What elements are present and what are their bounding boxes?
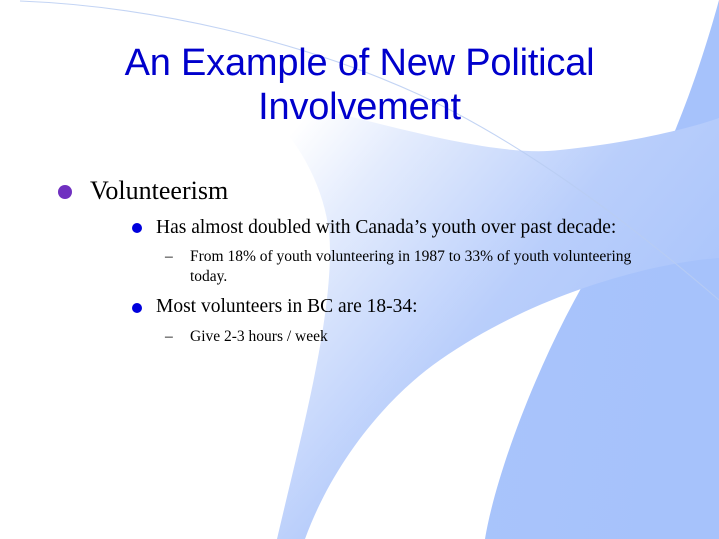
- en-dash-bullet-icon: –: [165, 327, 173, 347]
- list-item: – From 18% of youth volunteering in 1987…: [165, 247, 672, 286]
- filled-circle-bullet-icon: [132, 303, 142, 313]
- list-item-label: Most volunteers in BC are 18-34:: [156, 295, 672, 319]
- slide-content: An Example of New Political Involvement …: [0, 0, 719, 539]
- list-item-label: Has almost doubled with Canada’s youth o…: [156, 216, 672, 240]
- list-item: Most volunteers in BC are 18-34:: [124, 295, 672, 319]
- list-item-label: Volunteerism: [90, 176, 672, 207]
- page-title: An Example of New Political Involvement: [40, 42, 679, 129]
- en-dash-bullet-icon: –: [165, 247, 173, 267]
- presentation-slide: An Example of New Political Involvement …: [0, 0, 719, 539]
- list-item: Has almost doubled with Canada’s youth o…: [124, 216, 672, 240]
- filled-circle-bullet-icon: [132, 223, 142, 233]
- list-item-label: From 18% of youth volunteering in 1987 t…: [190, 247, 672, 286]
- filled-circle-bullet-icon: [58, 185, 72, 199]
- list-item: – Give 2-3 hours / week: [165, 327, 672, 347]
- list-item: Volunteerism: [52, 176, 672, 207]
- list-item-label: Give 2-3 hours / week: [190, 327, 672, 347]
- bullet-list: Volunteerism Has almost doubled with Can…: [52, 176, 672, 347]
